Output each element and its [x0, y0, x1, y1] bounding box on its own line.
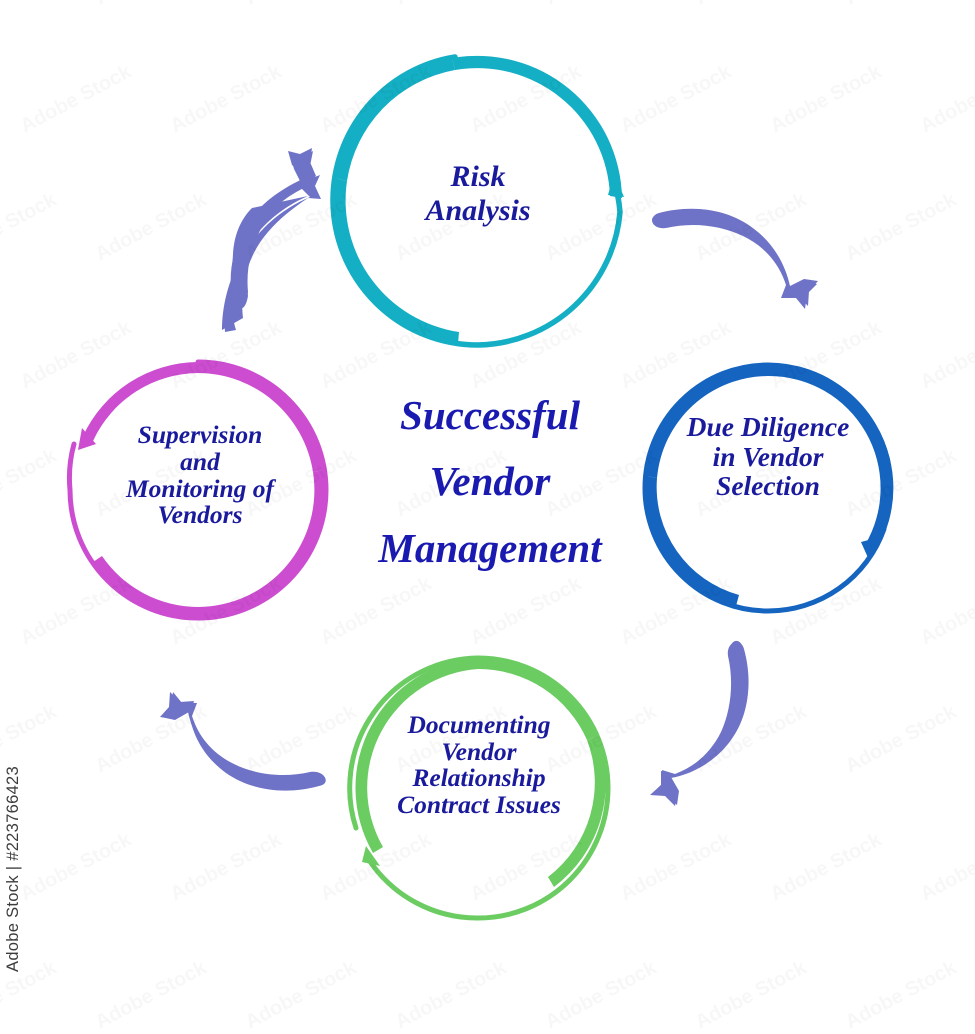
- cycle-diagram: [0, 0, 975, 1000]
- node-ring-documenting-vendor[interactable]: [350, 658, 608, 918]
- arrow-bottom-to-left: [160, 692, 326, 791]
- stock-credit-watermark: Adobe Stock | #223766423: [4, 766, 23, 972]
- arrow-left-to-top: [222, 148, 321, 332]
- arrow-right-to-bottom: [650, 641, 749, 806]
- node-ring-supervision-monitoring[interactable]: [69, 362, 326, 618]
- node-ring-risk-analysis[interactable]: [333, 56, 624, 345]
- diagram-canvas: Adobe StockAdobe StockAdobe StockAdobe S…: [0, 0, 975, 1000]
- node-ring-due-diligence[interactable]: [645, 365, 893, 611]
- arrow-top-to-right: [652, 209, 818, 309]
